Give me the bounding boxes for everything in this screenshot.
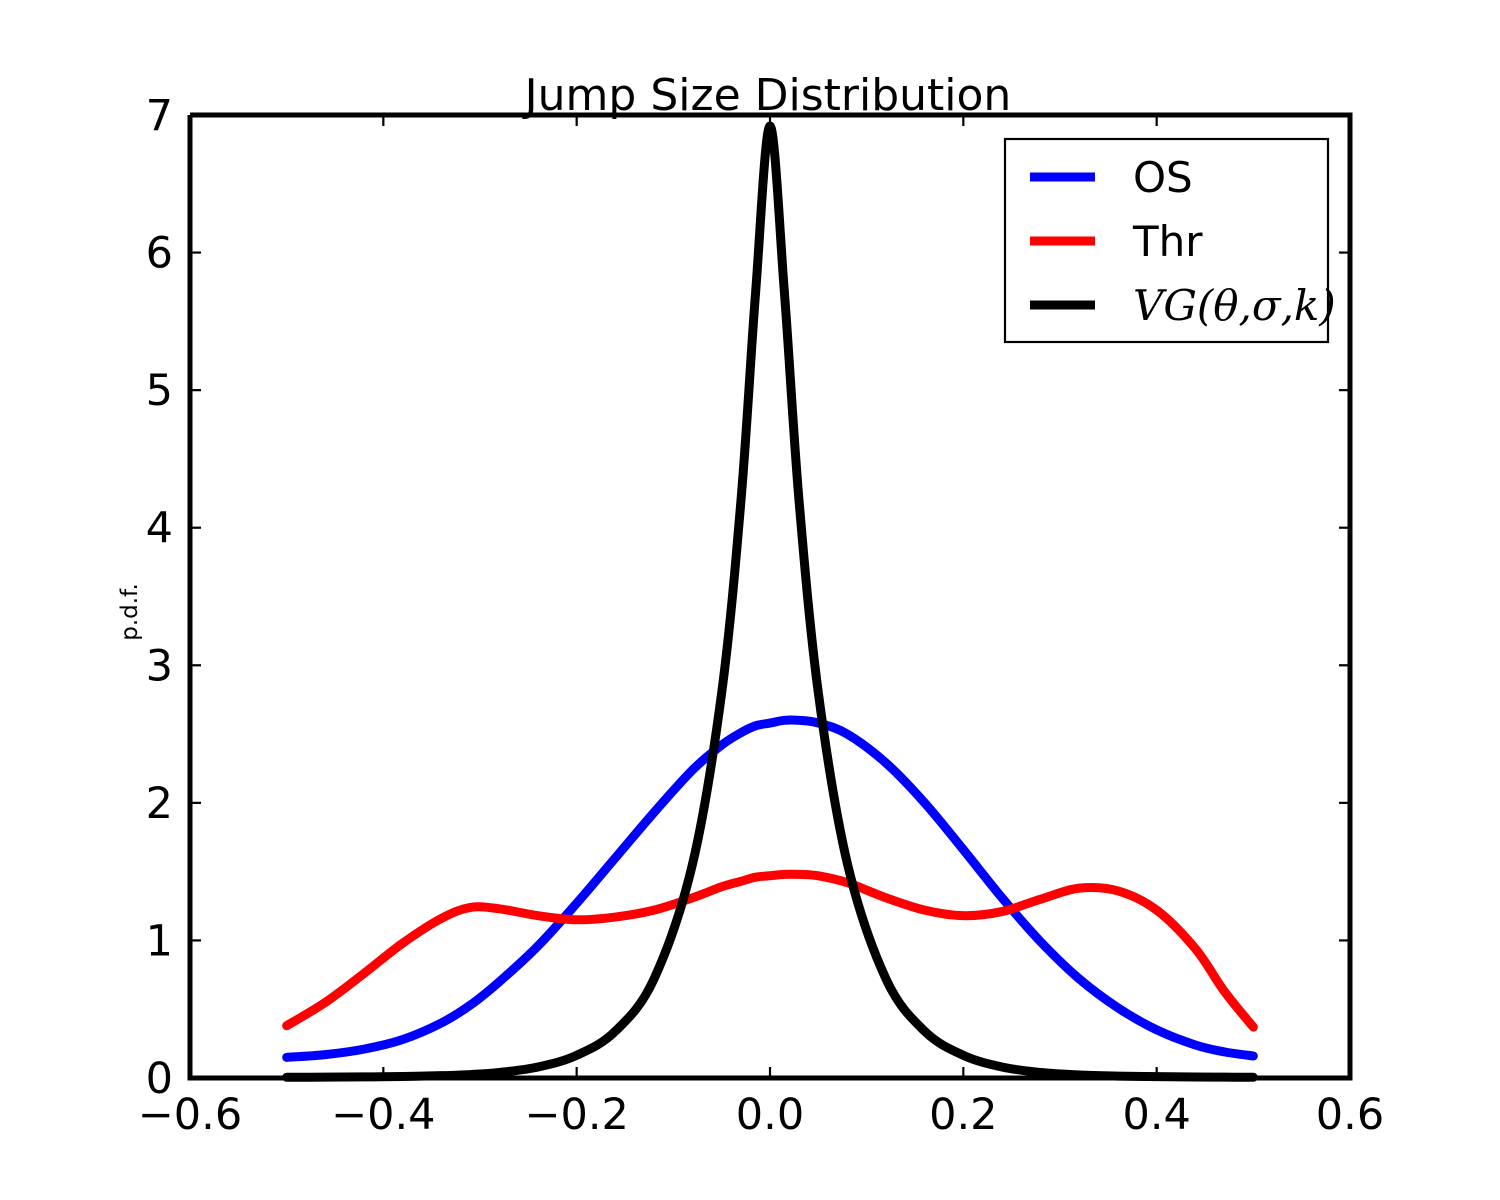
y-axis-label: p.d.f. [117,583,143,641]
y-tick-label: 7 [146,91,173,141]
x-tick-label: 0.6 [1316,1090,1384,1140]
y-tick-label: 0 [146,1054,173,1104]
y-tick-label: 3 [146,641,173,691]
jump-size-distribution-chart: Jump Size Distribution −0.6−0.4−0.20.00.… [0,0,1500,1200]
x-tick-label: 0.0 [736,1090,804,1140]
x-tick-label: 0.4 [1122,1090,1190,1140]
y-tick-label: 4 [146,504,173,554]
chart-page: Jump Size Distribution −0.6−0.4−0.20.00.… [0,0,1500,1200]
x-tick-label: −0.2 [524,1090,628,1140]
y-tick-label: 2 [146,779,173,829]
legend-label-thr[interactable]: Thr [1132,217,1203,266]
legend[interactable]: OSThrVG(θ,σ,k) [1005,139,1336,342]
y-tick-label: 1 [146,916,173,966]
x-tick-label: 0.2 [929,1090,997,1140]
y-tick-label: 5 [146,366,173,416]
y-tick-label: 6 [146,229,173,279]
x-tick-label: −0.4 [331,1090,435,1140]
legend-label-os[interactable]: OS [1133,153,1193,202]
legend-label-vgk[interactable]: VG(θ,σ,k) [1133,281,1336,330]
